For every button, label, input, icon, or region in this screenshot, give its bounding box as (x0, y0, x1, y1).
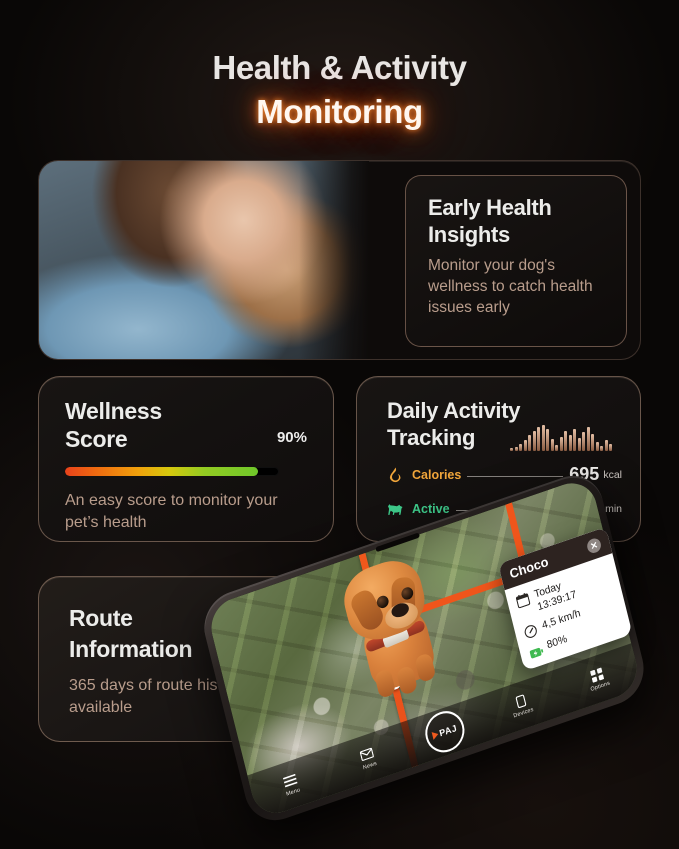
waveform-bar (587, 427, 590, 451)
waveform-bar (582, 432, 585, 451)
wellness-progress-fill (65, 467, 258, 476)
waveform-bar (569, 435, 572, 451)
speedometer-icon (523, 623, 538, 640)
activity-waveform-icon (510, 423, 612, 451)
flame-icon (387, 466, 404, 483)
waveform-bar (596, 442, 599, 451)
waveform-bar (524, 440, 527, 451)
wellness-title-line2: Score (65, 425, 311, 453)
dog-icon (387, 500, 404, 517)
battery-icon (528, 643, 543, 660)
waveform-bar (591, 434, 594, 451)
paj-logo-icon[interactable]: PAJ (421, 706, 469, 758)
waveform-bar (542, 425, 545, 451)
early-health-insights-panel: Early Health Insights Monitor your dog's… (405, 175, 627, 347)
waveform-bar (564, 431, 567, 451)
stat-unit-calories: kcal (603, 469, 622, 481)
waveform-bar (573, 429, 576, 451)
waveform-bar (515, 447, 518, 451)
waveform-bar (609, 444, 612, 451)
page-title-line1: Health & Activity (0, 48, 679, 88)
wellness-percent-label: 90% (277, 429, 307, 446)
waveform-bar (555, 445, 558, 451)
waveform-bar (605, 440, 608, 451)
calendar-icon (515, 592, 530, 609)
stat-label-active: Active (412, 502, 450, 516)
waveform-bar (537, 427, 540, 451)
popup-battery-label: 80% (546, 633, 569, 653)
early-health-description: Monitor your dog's wellness to catch hea… (428, 255, 612, 318)
wellness-progress-bar (65, 467, 279, 476)
waveform-bar (510, 448, 513, 451)
waveform-bar (578, 438, 581, 451)
page-title-line2: Monitoring (0, 92, 679, 132)
waveform-bar (551, 439, 554, 451)
early-health-title-line1: Early Health (428, 194, 612, 221)
stat-label-calories: Calories (412, 468, 461, 482)
waveform-bar (546, 429, 549, 451)
stat-divider (467, 476, 563, 477)
waveform-bar (519, 444, 522, 451)
paj-label: PAJ (438, 723, 458, 739)
early-health-title-line2: Insights (428, 221, 612, 248)
dog-ear (347, 586, 386, 634)
waveform-bar (533, 431, 536, 451)
vet-dog-photo (39, 161, 369, 359)
wellness-score-card: Wellness Score 90% An easy score to moni… (38, 376, 334, 542)
stat-unit-active: min (605, 503, 622, 515)
phone-mockup: Menu News PAJ (196, 524, 666, 844)
waveform-bar (560, 437, 563, 451)
activity-title-line1: Daily Activity (387, 397, 622, 424)
wellness-title-line1: Wellness (65, 397, 311, 425)
early-health-insights-card: Early Health Insights Monitor your dog's… (38, 160, 641, 360)
promo-banner: Health & Activity Monitoring Early Healt… (0, 0, 679, 849)
waveform-bar (528, 435, 531, 451)
close-icon[interactable]: ✕ (586, 536, 603, 554)
page-title: Health & Activity Monitoring (0, 48, 679, 132)
waveform-bar (600, 446, 603, 451)
